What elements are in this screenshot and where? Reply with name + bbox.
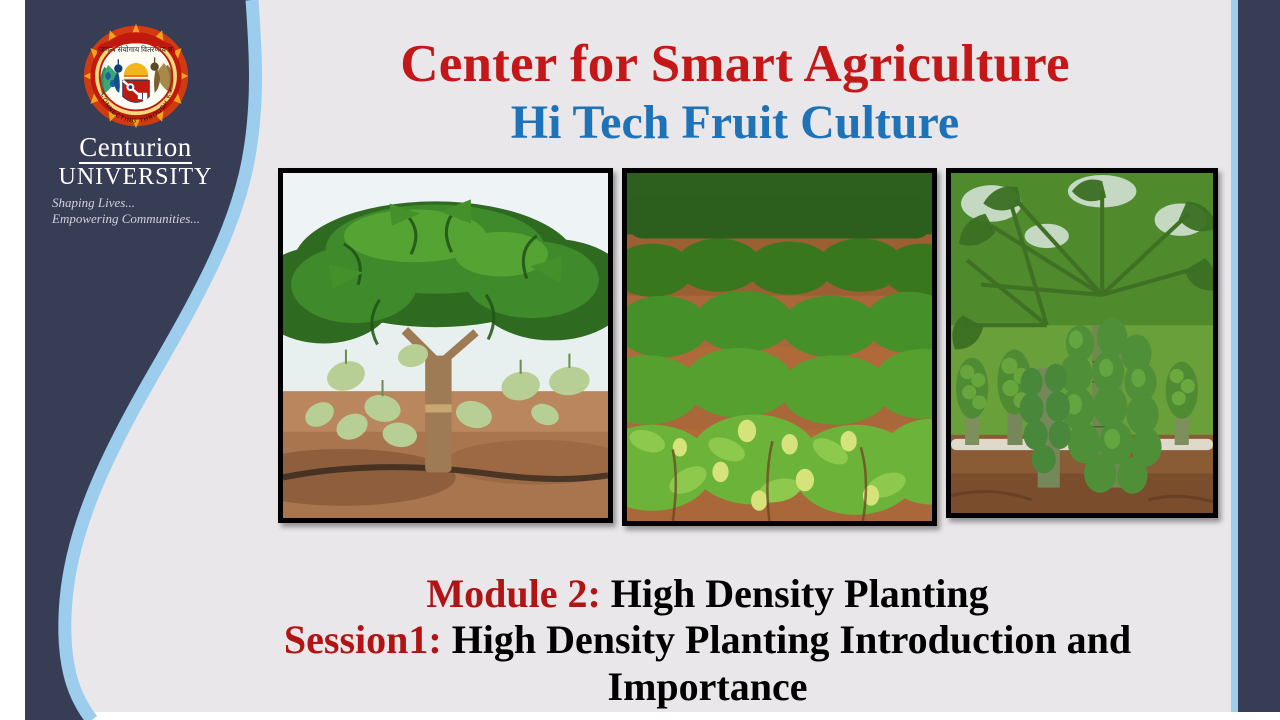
university-tagline: Shaping Lives... Empowering Communities.… [48, 195, 223, 228]
photo-gallery [278, 168, 1208, 523]
papaya-plantation-photo [946, 168, 1218, 518]
slide-heading-block: Center for Smart Agriculture Hi Tech Fru… [250, 36, 1220, 150]
mango-orchard-photo [278, 168, 613, 523]
university-name-secondary: UNIVERSITY [48, 165, 223, 190]
university-name-primary: Centurion [79, 134, 192, 164]
tagline-line-1: Shaping Lives... [52, 195, 223, 211]
university-emblem-icon: जगत्य संयोगाय वितरणाय च [80, 22, 192, 130]
right-accent-stripe [1231, 0, 1238, 720]
slide-caption: Module 2: High Density Planting Session1… [195, 571, 1220, 710]
tagline-line-2: Empowering Communities... [52, 211, 223, 227]
left-white-margin [0, 0, 25, 720]
session-line: Session1: High Density Planting Introduc… [195, 617, 1220, 710]
page-title: Center for Smart Agriculture [250, 36, 1220, 93]
mango-orchard-illustration [283, 173, 608, 518]
right-navy-band [1238, 0, 1280, 720]
session-label: Session1: [284, 617, 442, 662]
module-text: High Density Planting [601, 571, 989, 616]
dense-rows-illustration [627, 173, 932, 521]
guava-orchard-rows-photo [622, 168, 937, 526]
university-branding: जगत्य संयोगाय वितरणाय च [48, 22, 223, 228]
page-subtitle: Hi Tech Fruit Culture [250, 97, 1220, 150]
module-label: Module 2: [426, 571, 600, 616]
module-line: Module 2: High Density Planting [195, 571, 1220, 617]
papaya-plantation-illustration [951, 173, 1213, 513]
presentation-slide: जगत्य संयोगाय वितरणाय च [0, 0, 1280, 720]
session-text: High Density Planting Introduction and I… [442, 617, 1131, 708]
